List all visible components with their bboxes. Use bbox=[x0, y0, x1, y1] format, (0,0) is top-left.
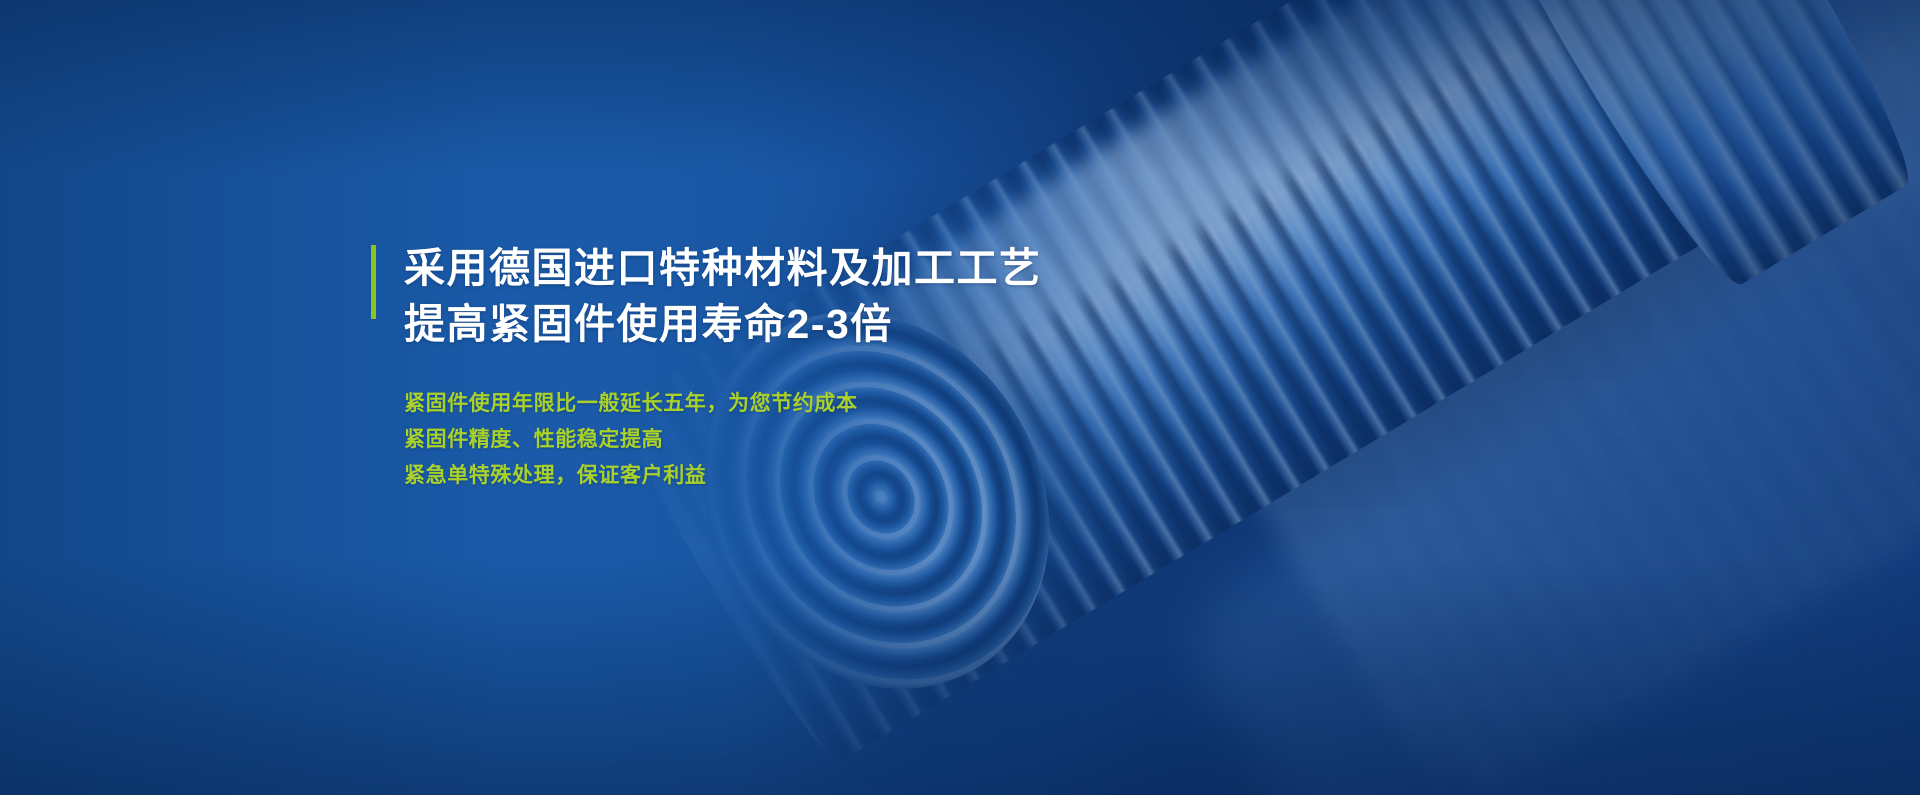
hero-banner: 采用德国进口特种材料及加工工艺 提高紧固件使用寿命2-3倍 紧固件使用年限比一般… bbox=[0, 0, 1920, 795]
subtext-line-3: 紧急单特殊处理，保证客户利益 bbox=[404, 458, 1271, 494]
accent-bar bbox=[371, 245, 376, 319]
banner-content: 采用德国进口特种材料及加工工艺 提高紧固件使用寿命2-3倍 紧固件使用年限比一般… bbox=[371, 240, 1271, 494]
headline-line-2: 提高紧固件使用寿命2-3倍 bbox=[404, 296, 1271, 352]
subtext-line-1: 紧固件使用年限比一般延长五年，为您节约成本 bbox=[404, 386, 1271, 422]
headline-line-1: 采用德国进口特种材料及加工工艺 bbox=[404, 240, 1271, 296]
headline-group: 采用德国进口特种材料及加工工艺 提高紧固件使用寿命2-3倍 bbox=[371, 240, 1271, 352]
subtext-group: 紧固件使用年限比一般延长五年，为您节约成本 紧固件精度、性能稳定提高 紧急单特殊… bbox=[371, 386, 1271, 494]
subtext-line-2: 紧固件精度、性能稳定提高 bbox=[404, 422, 1271, 458]
